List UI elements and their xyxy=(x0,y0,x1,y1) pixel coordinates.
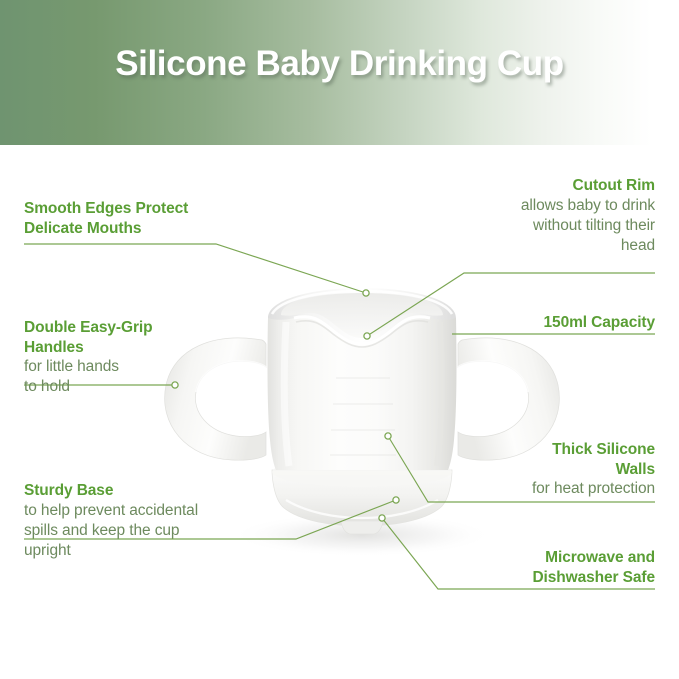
callout-thick-walls-body: for heat protection xyxy=(400,479,655,499)
callout-sturdy-base: Sturdy Base to help prevent accidental s… xyxy=(24,481,284,561)
callout-sturdy-base-body: to help prevent accidental spills and ke… xyxy=(24,501,284,561)
leader-dot-sturdy-base xyxy=(393,497,399,503)
callout-smooth-edges-title: Smooth Edges Protect Delicate Mouths xyxy=(24,199,274,238)
callout-smooth-edges: Smooth Edges Protect Delicate Mouths xyxy=(24,199,274,238)
leader-dot-cutout-rim xyxy=(364,333,370,339)
callout-capacity: 150ml Capacity xyxy=(400,313,655,333)
leader-dot-microwave-safe xyxy=(379,515,385,521)
callout-capacity-title: 150ml Capacity xyxy=(400,313,655,333)
callout-cutout-rim-title: Cutout Rim xyxy=(400,176,655,196)
callout-cutout-rim: Cutout Rim allows baby to drink without … xyxy=(400,176,655,256)
callout-double-handles-title: Double Easy-Grip Handles xyxy=(24,318,239,357)
leader-dot-thick-walls xyxy=(385,433,391,439)
callout-cutout-rim-body: allows baby to drink without tilting the… xyxy=(400,196,655,256)
leader-smooth-edges xyxy=(24,244,366,293)
leader-dot-smooth-edges xyxy=(363,290,369,296)
callout-thick-walls: Thick Silicone Walls for heat protection xyxy=(400,440,655,499)
callout-sturdy-base-title: Sturdy Base xyxy=(24,481,284,501)
callout-microwave-safe: Microwave and Dishwasher Safe xyxy=(400,548,655,587)
callout-microwave-safe-title: Microwave and Dishwasher Safe xyxy=(400,548,655,587)
infographic-page: Silicone Baby Drinking Cup xyxy=(0,0,679,679)
callout-double-handles: Double Easy-Grip Handles for little hand… xyxy=(24,318,239,397)
callout-double-handles-body: for little hands to hold xyxy=(24,357,239,397)
callout-thick-walls-title: Thick Silicone Walls xyxy=(400,440,655,479)
